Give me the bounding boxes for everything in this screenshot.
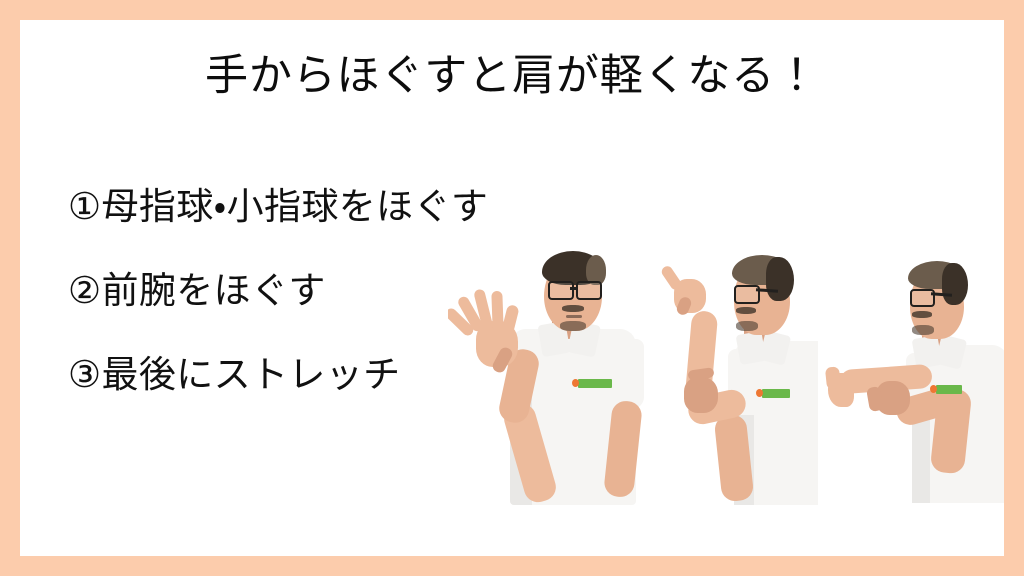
brand-badge [936,385,962,394]
brand-badge [578,379,612,388]
slide-content-panel: 手からほぐすと肩が軽くなる！ ①母指球・小指球をほぐす ②前腕をほぐす ③最後に… [20,20,1004,556]
figure-3-art [818,255,1004,505]
photo-wrist-stretch [818,255,1004,505]
slide-root: 手からほぐすと肩が軽くなる！ ①母指球・小指球をほぐす ②前腕をほぐす ③最後に… [0,0,1024,576]
photo-thenar-hypothenar-massage [448,243,648,505]
brand-badge [762,389,790,398]
glasses-icon [548,281,574,300]
brand-badge-accent [572,379,579,387]
brand-badge-accent [930,385,937,393]
brand-badge-accent [756,389,763,397]
photo-strip [420,20,1004,556]
glasses-icon-right [576,281,602,300]
figure-1-art [448,243,648,505]
